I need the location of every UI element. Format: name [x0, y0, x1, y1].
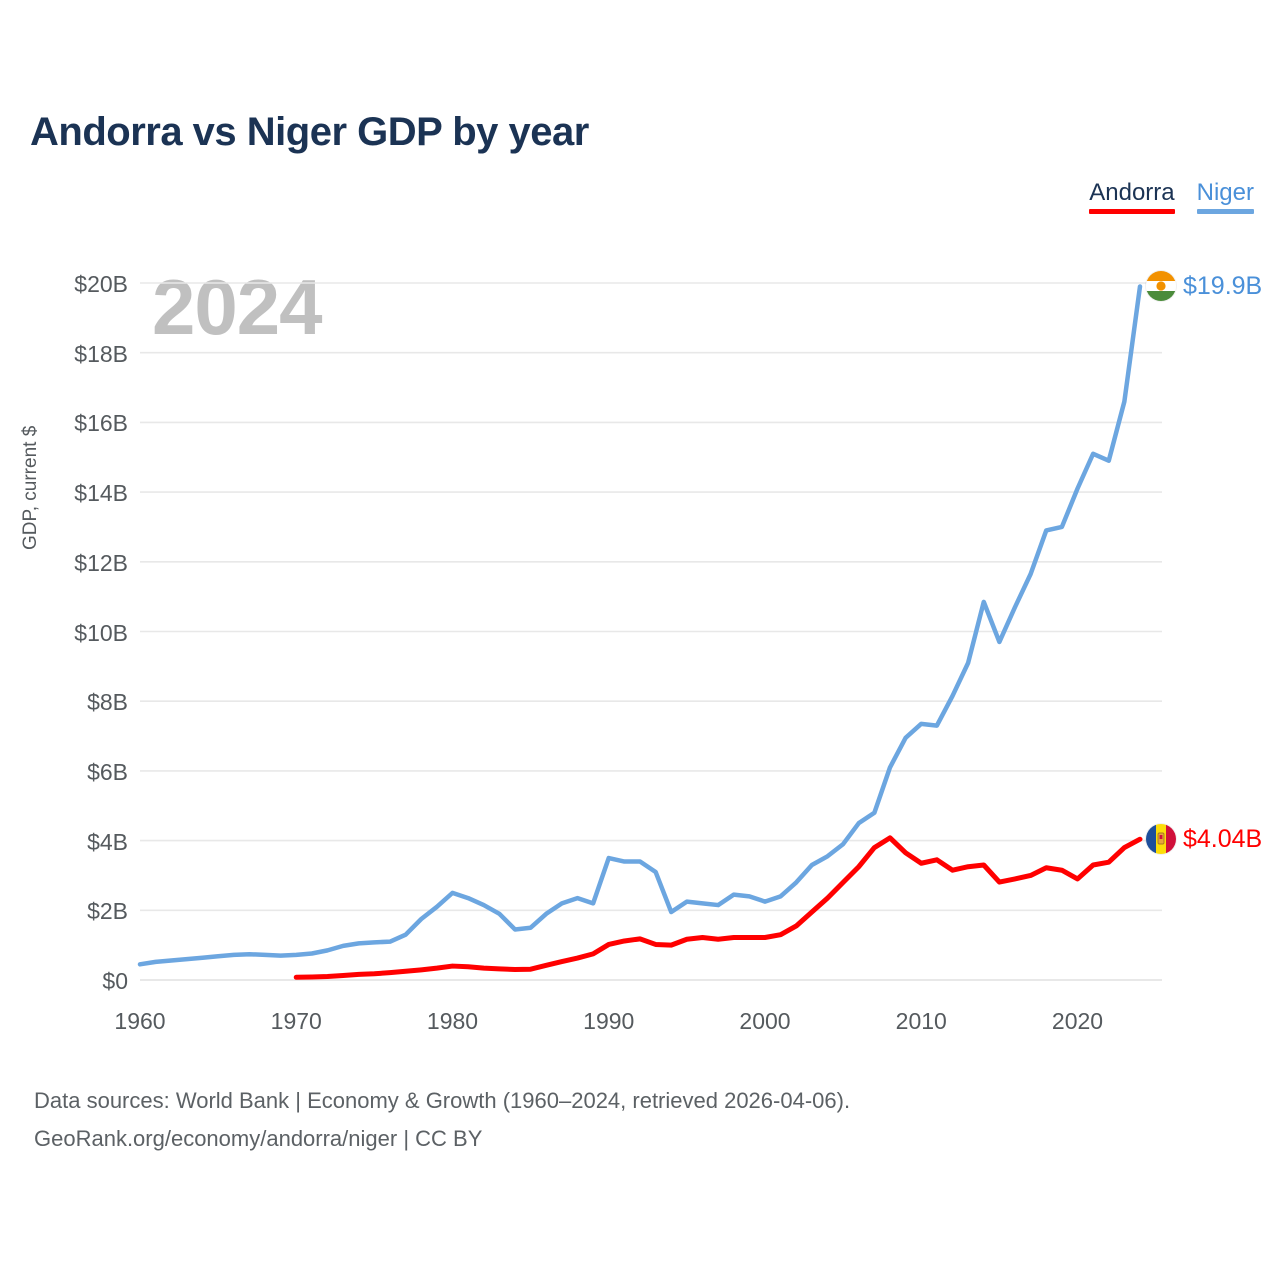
series-line-andorra: [296, 838, 1140, 977]
series-line-niger: [140, 286, 1140, 964]
flag-icon-andorra: [1146, 824, 1176, 854]
flag-icon-niger: [1146, 271, 1176, 301]
x-tick-label: 2010: [896, 1008, 947, 1035]
endpoint-value-andorra: $4.04B: [1183, 825, 1262, 854]
x-tick-label: 2000: [739, 1008, 790, 1035]
footer-line-2: GeoRank.org/economy/andorra/niger | CC B…: [34, 1120, 850, 1158]
footer-note: Data sources: World Bank | Economy & Gro…: [34, 1082, 850, 1158]
x-tick-label: 1990: [583, 1008, 634, 1035]
endpoint-andorra: $4.04B: [1146, 824, 1262, 854]
footer-line-1: Data sources: World Bank | Economy & Gro…: [34, 1082, 850, 1120]
chart-container: Andorra vs Niger GDP by year Andorra Nig…: [0, 0, 1280, 1280]
x-tick-label: 2020: [1052, 1008, 1103, 1035]
x-tick-label: 1960: [114, 1008, 165, 1035]
endpoint-niger: $19.9B: [1146, 271, 1262, 301]
x-tick-label: 1970: [271, 1008, 322, 1035]
x-tick-label: 1980: [427, 1008, 478, 1035]
endpoint-value-niger: $19.9B: [1183, 272, 1262, 301]
